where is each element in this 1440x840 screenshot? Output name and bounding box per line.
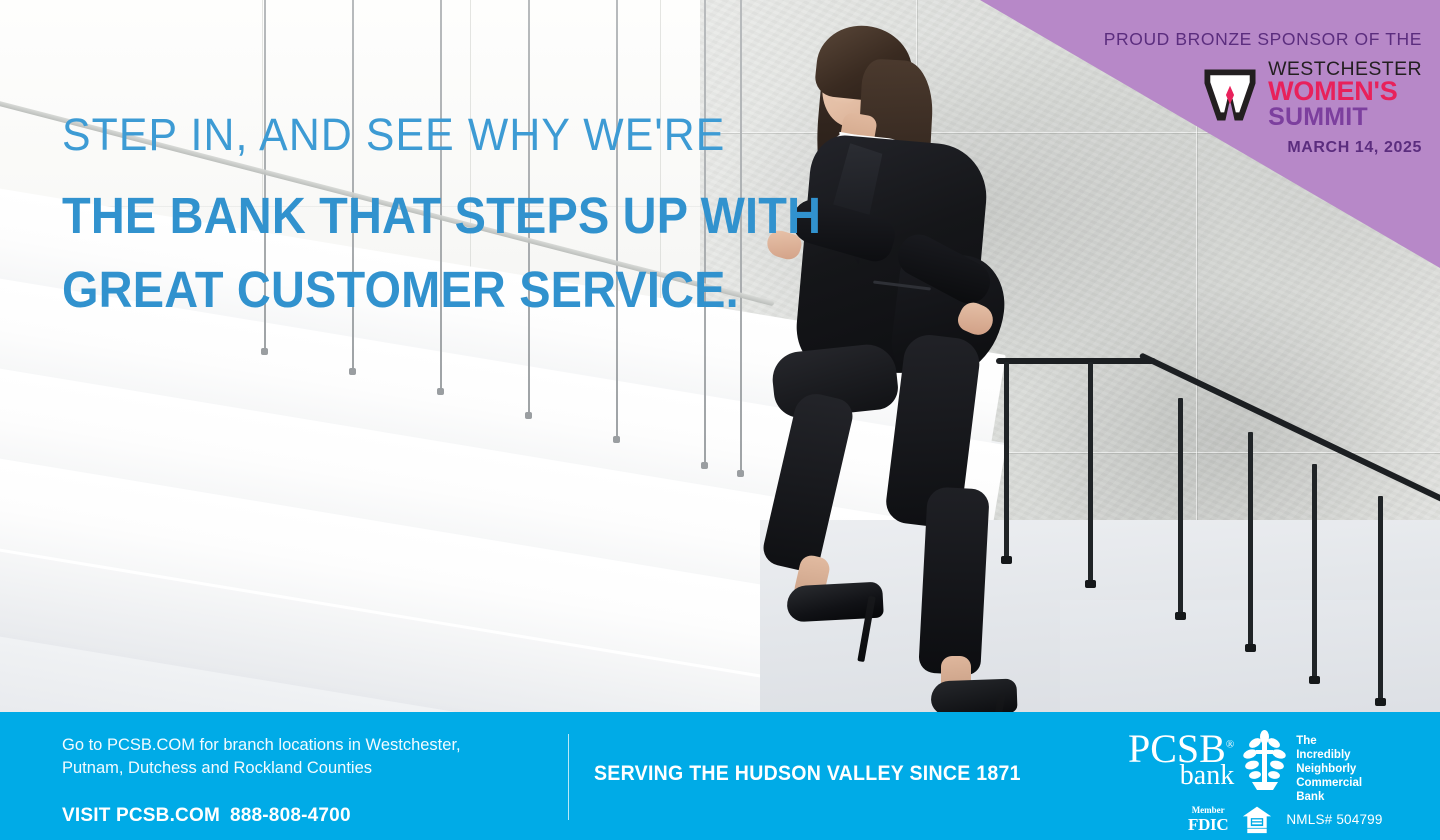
footer-tagline: SERVING THE HUDSON VALLEY SINCE 1871 bbox=[594, 762, 1021, 786]
phone-number[interactable]: 888-808-4700 bbox=[230, 805, 351, 826]
headline-block: STEP IN, AND SEE WHY WE'RE THE BANK THAT… bbox=[62, 112, 822, 328]
ww-monogram-icon bbox=[1201, 66, 1259, 124]
footer-divider bbox=[568, 734, 569, 820]
wws-line-summit: SUMMIT bbox=[1268, 106, 1422, 130]
railing-post-foot bbox=[737, 470, 744, 477]
black-railing-post bbox=[1178, 398, 1183, 616]
black-railing-post bbox=[1312, 464, 1317, 680]
tagline-line: The bbox=[1296, 734, 1362, 748]
railing-post-foot bbox=[261, 348, 268, 355]
footer-branch-info: Go to PCSB.COM for branch locations in W… bbox=[62, 734, 542, 827]
wws-wordmark: WESTCHESTER WOMEN'S SUMMIT bbox=[1268, 60, 1422, 129]
black-railing-post bbox=[1088, 362, 1093, 584]
railing-post-foot bbox=[525, 412, 532, 419]
equal-housing-lender-icon bbox=[1242, 804, 1272, 834]
tagline-line: Commercial bbox=[1296, 776, 1362, 790]
black-railing-post bbox=[1004, 362, 1009, 560]
headline-line-1: STEP IN, AND SEE WHY WE'RE bbox=[62, 112, 784, 157]
pcsb-brand-block: PCSB® bank bbox=[1128, 728, 1428, 836]
black-railing-base bbox=[1309, 676, 1320, 684]
fdic-badge: Member FDIC bbox=[1188, 806, 1228, 833]
nmls-number: NMLS# 504799 bbox=[1286, 812, 1382, 827]
sponsor-event-date: MARCH 14, 2025 bbox=[1287, 139, 1422, 157]
advertisement-banner: STEP IN, AND SEE WHY WE'RE THE BANK THAT… bbox=[0, 0, 1440, 840]
black-railing-post bbox=[1248, 432, 1253, 648]
registered-mark: ® bbox=[1226, 739, 1234, 751]
westchester-womens-summit-logo: WESTCHESTER WOMEN'S SUMMIT bbox=[1201, 60, 1422, 129]
pcsb-tagline: The Incredibly Neighborly Commercial Ban… bbox=[1296, 728, 1362, 804]
black-railing-base bbox=[1245, 644, 1256, 652]
pcsb-logo: PCSB® bank bbox=[1128, 728, 1428, 804]
fdic-member-label: Member bbox=[1192, 806, 1225, 815]
headline-line-2: THE BANK THAT STEPS UP WITH bbox=[62, 179, 761, 253]
black-railing-base bbox=[1375, 698, 1386, 706]
visit-website-label[interactable]: VISIT PCSB.COM bbox=[62, 805, 220, 826]
pcsb-name: PCSB® bbox=[1128, 732, 1234, 766]
tagline-line: Bank bbox=[1296, 790, 1362, 804]
tagline-line: Neighborly bbox=[1296, 762, 1362, 776]
black-railing-base bbox=[1001, 556, 1012, 564]
sponsor-eyebrow: PROUD BRONZE SPONSOR OF THE bbox=[1104, 29, 1422, 50]
black-railing-base bbox=[1175, 612, 1186, 620]
footer-cta[interactable]: VISIT PCSB.COM888-808-4700 bbox=[62, 805, 542, 827]
footer-bar: Go to PCSB.COM for branch locations in W… bbox=[0, 712, 1440, 840]
wws-line-womens: WOMEN'S bbox=[1268, 79, 1422, 104]
tagline-line: Incredibly bbox=[1296, 748, 1362, 762]
railing-post-foot bbox=[613, 436, 620, 443]
black-railing-base bbox=[1085, 580, 1096, 588]
tree-icon bbox=[1242, 730, 1288, 792]
compliance-badges: Member FDIC NMLS# 504799 bbox=[1188, 804, 1383, 834]
branch-line-1: Go to PCSB.COM for branch locations in W… bbox=[62, 734, 542, 757]
pcsb-wordmark: PCSB® bank bbox=[1128, 728, 1234, 788]
black-railing-post bbox=[1378, 496, 1383, 702]
headline-line-3: GREAT CUSTOMER SERVICE. bbox=[62, 253, 761, 327]
fdic-label: FDIC bbox=[1188, 816, 1228, 833]
black-handrail-flat bbox=[996, 358, 1156, 364]
railing-post-foot bbox=[701, 462, 708, 469]
branch-line-2: Putnam, Dutchess and Rockland Counties bbox=[62, 757, 542, 780]
railing-post-foot bbox=[437, 388, 444, 395]
railing-post-foot bbox=[349, 368, 356, 375]
sponsor-content: PROUD BRONZE SPONSOR OF THE WESTCHESTER … bbox=[980, 0, 1440, 268]
